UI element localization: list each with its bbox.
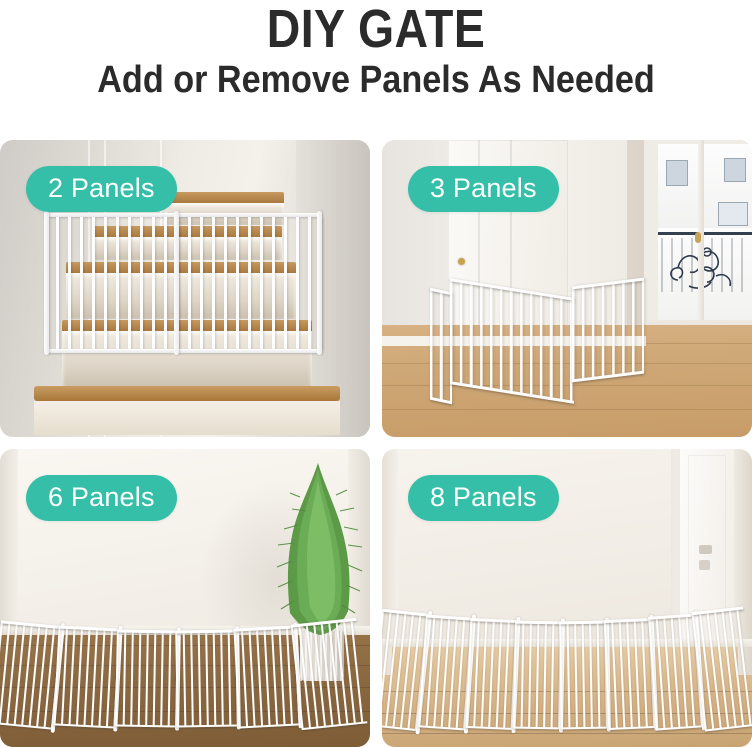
gate-post-right [317,211,322,355]
gate-bars [513,621,563,730]
gate-panel-1 [430,288,452,405]
safety-gate-2-panel [44,213,322,353]
exterior-building-view [658,144,752,228]
gate-post-left [44,211,49,355]
gate-bars [430,288,452,405]
photo-cell-2-panels[interactable]: 2 Panels [0,140,370,437]
gate-panel-5 [233,625,300,728]
panel-count-badge: 3 Panels [408,166,559,212]
photo-cell-6-panels[interactable]: 6 Panels [0,449,370,747]
panel-count-badge: 6 Panels [26,475,177,521]
gate-panel-4 [175,629,239,727]
stair-tread [166,192,284,203]
gate-vertical-bars [44,217,322,349]
photo-cell-8-panels[interactable]: 8 Panels [382,449,752,747]
gate-panel-4 [513,621,563,730]
exterior-window [718,202,748,226]
gate-panel-2 [450,278,574,404]
door-handle [699,545,712,554]
panel-count-badge: 2 Panels [26,166,177,212]
gate-panel-6 [291,618,368,730]
page-title: DIY GATE [53,2,700,57]
gate-panel-3 [115,629,179,727]
gate-bars [291,618,368,730]
door-knob [458,258,465,265]
panel-count-badge: 8 Panels [408,475,559,521]
photo-cell-3-panels[interactable]: 3 Panels [382,140,752,437]
gate-post-middle [174,211,179,355]
gate-bars [175,629,239,727]
bottom-stair-tread [34,386,340,401]
floor-plank-line [382,409,752,410]
bottom-stair-riser [34,401,340,435]
panel-photo-grid: 2 Panels [0,140,752,747]
gate-panel-3 [572,278,644,383]
gate-bars [53,625,120,728]
exterior-window [666,160,688,186]
exterior-window [724,158,746,182]
balcony-rail-top [658,232,752,235]
door-lock-plate [699,560,710,570]
safety-gate-6-panel [0,609,370,727]
gate-panel-3 [466,618,519,730]
header: DIY GATE Add or Remove Panels As Needed [0,0,752,101]
gate-bars [572,278,644,383]
gate-bottom-rail [44,349,322,353]
gate-bars [466,618,519,730]
page-subtitle: Add or Remove Panels As Needed [38,61,715,101]
safety-gate-8-panel [382,599,752,729]
balcony-scroll-svg [658,236,752,294]
balcony-ironwork [658,236,752,294]
product-infographic: DIY GATE Add or Remove Panels As Needed [0,0,752,747]
gate-panel-2 [53,625,120,728]
floor-plank-line [382,733,752,734]
gate-bars [450,278,574,404]
gate-bars [115,629,179,727]
gate-bars [233,625,300,728]
gate-bars [559,621,609,730]
gate-panel-5 [559,621,609,730]
french-door-handle [695,232,701,243]
